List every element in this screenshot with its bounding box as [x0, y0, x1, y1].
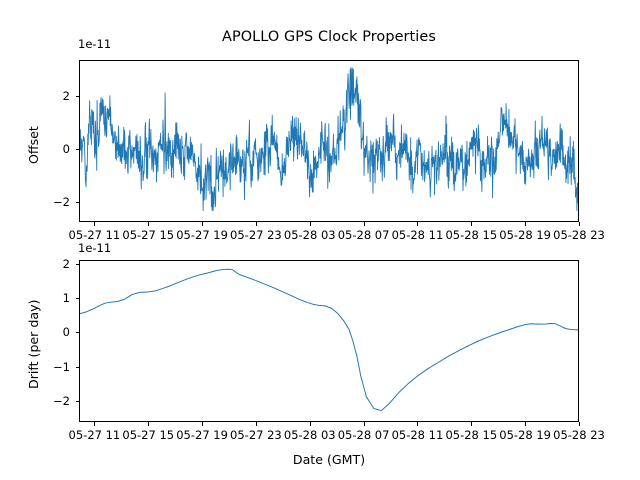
offset-x-tick-label: 05-28 07: [338, 228, 390, 242]
drift-x-tickmark: [310, 422, 311, 426]
offset-plot-area: [79, 60, 579, 222]
offset-x-tickmark: [202, 222, 203, 226]
drift-x-tickmark: [364, 422, 365, 426]
drift-y-tickmark: [76, 298, 80, 299]
offset-x-tick-label: 05-27 19: [176, 228, 228, 242]
drift-x-tickmark: [256, 422, 257, 426]
offset-y-tickmark: [76, 202, 80, 203]
offset-x-tickmark: [148, 222, 149, 226]
offset-y-tick-label: 0: [34, 142, 70, 156]
drift-data-line: [80, 269, 578, 410]
offset-x-tickmark: [94, 222, 95, 226]
drift-x-tickmark: [417, 422, 418, 426]
drift-y-tick-label: 0: [34, 325, 70, 339]
drift-x-tick-label: 05-28 19: [499, 428, 551, 442]
offset-y-tick-label: 2: [34, 89, 70, 103]
offset-x-tickmark: [256, 222, 257, 226]
offset-x-tickmark: [310, 222, 311, 226]
drift-plot-area: [79, 260, 579, 422]
drift-y-tickmark: [76, 332, 80, 333]
offset-x-tick-label: 05-28 19: [499, 228, 551, 242]
matplotlib-figure: APOLLO GPS Clock Properties 1e-11 Offset…: [0, 0, 640, 480]
drift-y-tickmark: [76, 264, 80, 265]
figure-title: APOLLO GPS Clock Properties: [79, 29, 579, 45]
offset-x-tickmark: [471, 222, 472, 226]
offset-x-tick-label: 05-27 23: [230, 228, 282, 242]
drift-x-tickmark: [148, 422, 149, 426]
offset-x-tick-label: 05-28 15: [445, 228, 497, 242]
drift-y-exponent-label: 1e-11: [78, 241, 111, 255]
offset-x-tick-label: 05-28 23: [553, 228, 605, 242]
drift-x-tick-label: 05-28 11: [392, 428, 444, 442]
drift-series-svg: [80, 261, 578, 421]
drift-x-tick-label: 05-28 03: [284, 428, 336, 442]
offset-data-line: [80, 68, 578, 211]
drift-y-tick-label: −1: [34, 360, 70, 374]
offset-x-tickmark: [579, 222, 580, 226]
x-axis-label: Date (GMT): [79, 452, 579, 467]
drift-y-tickmark: [76, 401, 80, 402]
offset-x-tick-label: 05-27 15: [122, 228, 174, 242]
offset-series-svg: [80, 61, 578, 221]
drift-x-tickmark: [525, 422, 526, 426]
drift-x-tick-label: 05-27 19: [176, 428, 228, 442]
drift-x-tick-label: 05-28 23: [553, 428, 605, 442]
drift-x-tickmark: [202, 422, 203, 426]
drift-x-tickmark: [94, 422, 95, 426]
drift-y-tickmark: [76, 367, 80, 368]
drift-y-axis-label: Drift (per day): [26, 300, 41, 389]
offset-x-tick-label: 05-28 11: [392, 228, 444, 242]
offset-x-tickmark: [364, 222, 365, 226]
offset-x-tick-label: 05-28 03: [284, 228, 336, 242]
drift-x-tick-label: 05-27 11: [69, 428, 121, 442]
drift-x-tickmark: [471, 422, 472, 426]
offset-y-tickmark: [76, 149, 80, 150]
drift-x-tick-label: 05-28 07: [338, 428, 390, 442]
offset-x-tickmark: [417, 222, 418, 226]
drift-x-tick-label: 05-28 15: [445, 428, 497, 442]
offset-y-tickmark: [76, 96, 80, 97]
offset-x-tickmark: [525, 222, 526, 226]
drift-x-tick-label: 05-27 15: [122, 428, 174, 442]
offset-x-tick-label: 05-27 11: [69, 228, 121, 242]
drift-x-tickmark: [579, 422, 580, 426]
offset-y-exponent-label: 1e-11: [78, 37, 111, 51]
offset-y-tick-label: −2: [34, 195, 70, 209]
drift-y-tick-label: 1: [34, 291, 70, 305]
drift-y-tick-label: −2: [34, 394, 70, 408]
drift-y-tick-label: 2: [34, 257, 70, 271]
drift-x-tick-label: 05-27 23: [230, 428, 282, 442]
